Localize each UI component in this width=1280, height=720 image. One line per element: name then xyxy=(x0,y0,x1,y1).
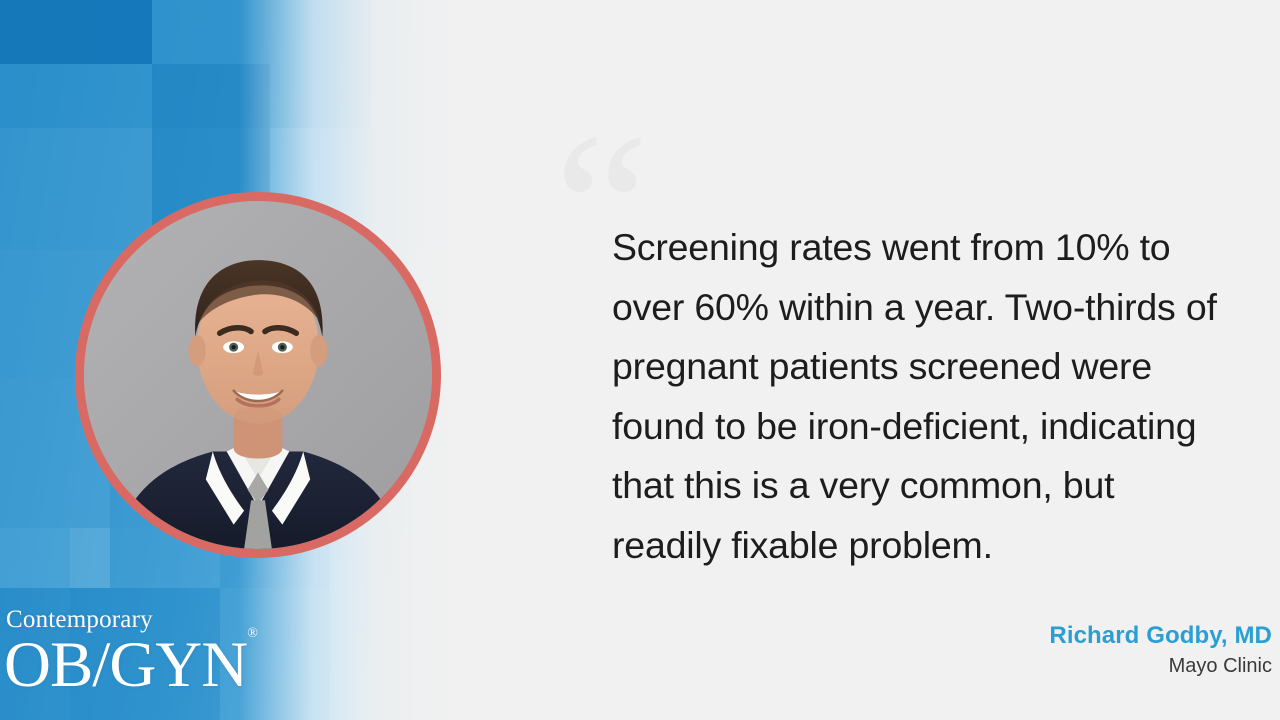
quote-line: found to be iron-deficient, indicating xyxy=(612,397,1272,457)
attribution: Richard Godby, MD Mayo Clinic xyxy=(852,621,1272,679)
logo-line-obgyn: OB/GYN® xyxy=(4,633,257,698)
quote-line: Screening rates went from 10% to xyxy=(612,218,1272,278)
speaker-name: Richard Godby, MD xyxy=(852,621,1272,651)
portrait-photo xyxy=(84,201,432,549)
quote-line: pregnant patients screened were xyxy=(612,337,1272,397)
speaker-organization: Mayo Clinic xyxy=(852,654,1272,679)
quote-block: “ Screening rates went from 10% to over … xyxy=(612,118,1272,575)
quote-line: over 60% within a year. Two-thirds of xyxy=(612,278,1272,338)
quote-text: Screening rates went from 10% to over 60… xyxy=(612,218,1272,575)
quote-line: readily fixable problem. xyxy=(612,516,1272,576)
logo-obgyn-text: OB/GYN xyxy=(4,629,247,701)
contemporary-obgyn-logo: Contemporary OB/GYN® xyxy=(4,607,249,698)
speaker-portrait xyxy=(75,192,441,558)
quote-line: that this is a very common, but xyxy=(612,456,1272,516)
registered-trademark-icon: ® xyxy=(247,626,257,641)
quote-card: Contemporary OB/GYN® “ Screening rates w… xyxy=(0,0,1280,720)
